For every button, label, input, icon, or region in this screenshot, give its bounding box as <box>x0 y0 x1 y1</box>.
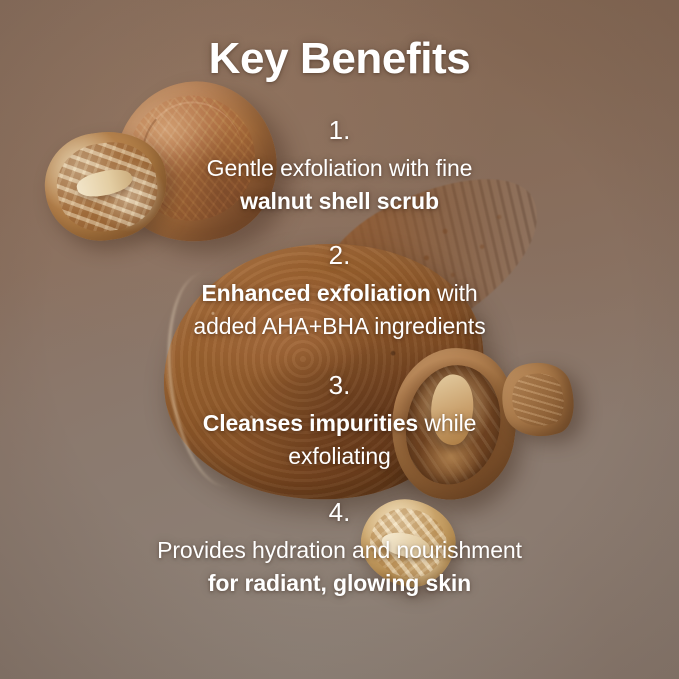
benefit-item-4: 4. Provides hydration and nourishment fo… <box>0 498 679 601</box>
benefit-item-2: 2. Enhanced exfoliation with added AHA+B… <box>0 241 679 344</box>
benefit-line-2-1-bold: Enhanced exfoliation <box>201 280 430 306</box>
benefit-line-3-1-bold: Cleanses impurities <box>203 410 418 436</box>
benefit-number-2: 2. <box>0 241 679 270</box>
benefit-line-4-2-bold: for radiant, glowing skin <box>208 570 471 596</box>
benefit-line-4-2: for radiant, glowing skin <box>0 567 679 601</box>
benefit-line-4-1: Provides hydration and nourishment <box>0 534 679 568</box>
benefit-number-3: 3. <box>0 371 679 400</box>
benefit-line-3-1: Cleanses impurities while <box>0 407 679 441</box>
benefit-line-2-1-rest: with <box>431 280 478 306</box>
benefit-number-4: 4. <box>0 498 679 527</box>
benefit-number-1: 1. <box>0 116 679 145</box>
benefit-item-3: 3. Cleanses impurities while exfoliating <box>0 371 679 474</box>
benefit-item-1: 1. Gentle exfoliation with fine walnut s… <box>0 116 679 219</box>
benefit-line-1-2: walnut shell scrub <box>0 185 679 219</box>
benefit-body-2: Enhanced exfoliation with added AHA+BHA … <box>0 277 679 344</box>
benefit-line-1-2-bold: walnut shell scrub <box>240 188 439 214</box>
product-benefits-infographic: Key Benefits 1. Gentle exfoliation with … <box>0 0 679 679</box>
benefit-line-3-1-rest: while <box>418 410 476 436</box>
text-overlay: Key Benefits 1. Gentle exfoliation with … <box>0 0 679 679</box>
benefit-body-4: Provides hydration and nourishment for r… <box>0 534 679 601</box>
benefit-line-3-2: exfoliating <box>0 440 679 474</box>
page-title: Key Benefits <box>0 37 679 81</box>
benefit-line-1-1: Gentle exfoliation with fine <box>0 152 679 186</box>
benefit-line-2-1: Enhanced exfoliation with <box>0 277 679 311</box>
benefit-body-1: Gentle exfoliation with fine walnut shel… <box>0 152 679 219</box>
benefit-body-3: Cleanses impurities while exfoliating <box>0 407 679 474</box>
benefit-line-2-2: added AHA+BHA ingredients <box>0 310 679 344</box>
